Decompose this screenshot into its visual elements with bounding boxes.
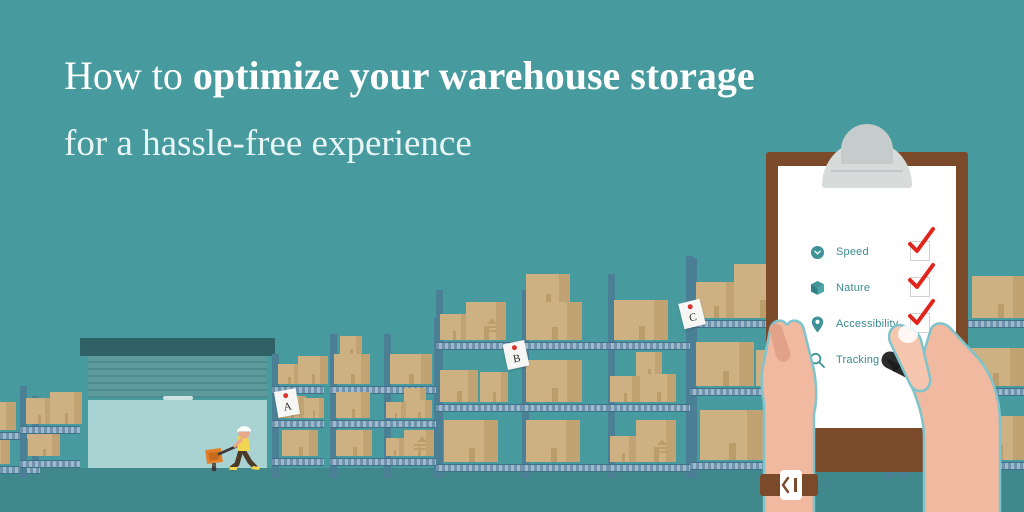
box [278,364,300,384]
box [50,392,82,424]
box [640,374,676,402]
right-hand-with-pen [880,318,1024,512]
box [298,356,328,384]
box [386,438,404,456]
box [0,402,16,430]
rack-beam [384,458,441,466]
rack-beam [272,458,324,466]
headline-line-2: for a hassle-free experience [64,122,864,166]
rack-beam [436,404,522,412]
box [386,402,406,418]
box [304,398,324,418]
box [440,370,478,402]
rack-beam [522,404,608,412]
box [340,336,362,356]
rack-beam [436,464,522,472]
headline-thin: How to [64,53,193,98]
box [526,420,580,462]
clipboard-clip-line [831,170,903,172]
box [614,300,668,340]
headline-bold: optimize your warehouse storage [193,53,755,98]
hero-banner: How to optimize your warehouse storage f… [0,0,1024,512]
box [440,314,468,340]
rack-beam [608,404,692,412]
rack-beam [608,464,692,472]
shelf-tag-letter: C [688,311,698,324]
box [610,376,640,402]
box [480,372,508,402]
shelf-tag-letter: B [512,352,522,365]
box [282,430,318,456]
box [336,430,372,456]
rack-beam [330,458,384,466]
box [466,302,506,340]
rack-beam [20,460,80,468]
box [28,434,60,456]
box [390,354,432,384]
shutter-handle [163,396,193,400]
door-header-beam [80,338,275,356]
rack-left-b [20,390,80,478]
clock-icon [806,245,828,260]
checkmark-icon [904,225,938,257]
box [334,354,370,384]
rack-beam [522,342,608,350]
rack-center [436,290,696,478]
checklist-label: Nature [836,282,870,294]
rack-mid-left [278,368,443,478]
box [404,430,434,456]
box [526,274,570,304]
box [526,302,582,340]
box [406,400,432,418]
shelf-tag-letter: A [283,400,293,413]
box [0,440,10,464]
rack-beam [522,464,608,472]
headline-line-1: How to optimize your warehouse storage [64,52,864,100]
box [636,420,676,462]
rack-beam [272,420,324,428]
box [972,276,1024,318]
left-hand [742,318,852,512]
box [526,360,582,402]
box [610,436,636,462]
box [26,398,52,424]
rack-beam [608,342,692,350]
box [336,392,370,418]
box [444,420,498,462]
checkmark-icon [904,261,938,293]
rack-beam [384,420,441,428]
warehouse-worker [205,424,265,472]
box-3d-icon [806,280,828,296]
rack-beam [20,426,80,434]
rack-beam [330,420,384,428]
headline-block: How to optimize your warehouse storage f… [64,52,864,166]
checklist-label: Speed [836,246,869,258]
roller-shutter-slats [88,356,267,398]
shelf-tag-a: A [274,388,300,417]
